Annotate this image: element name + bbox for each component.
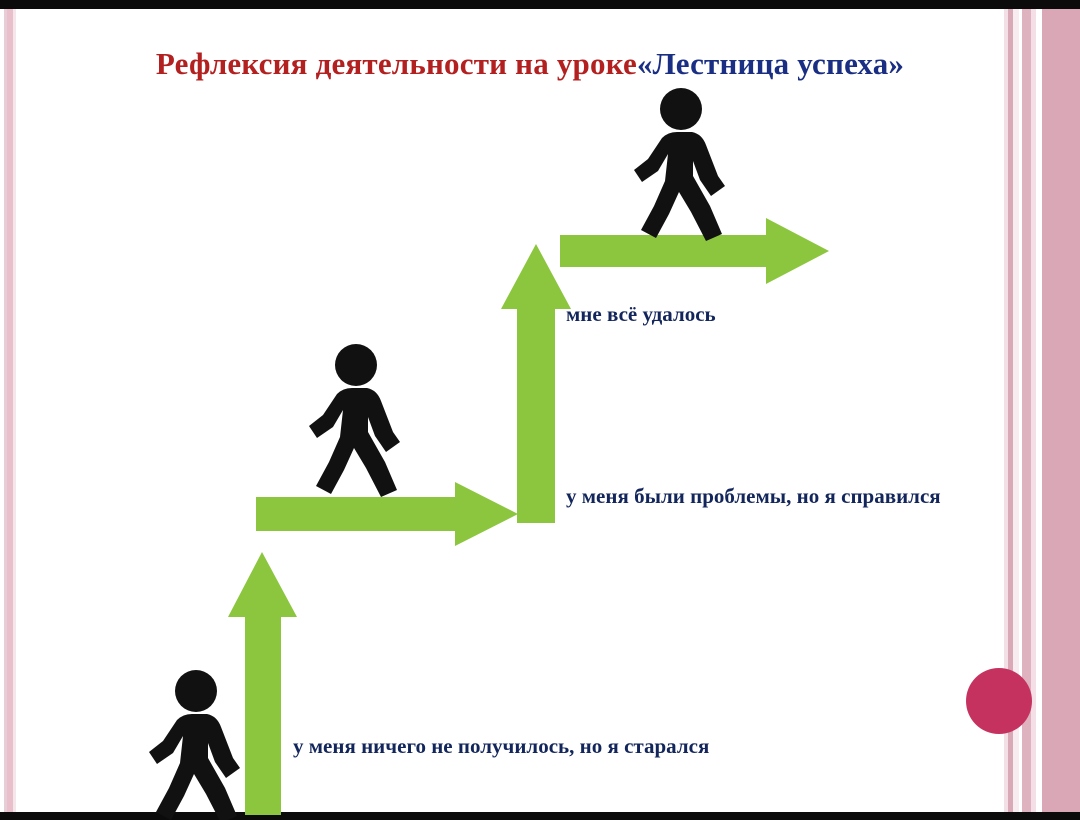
walking-person-icon-bottom bbox=[149, 670, 240, 820]
step-label-bottom: у меня ничего не получилось, но я старал… bbox=[293, 733, 823, 760]
slide-canvas: Рефлексия деятельности на уроке«Лестница… bbox=[0, 0, 1080, 820]
step-label-top: мне всё удалось bbox=[566, 301, 896, 328]
success-ladder-diagram bbox=[0, 0, 1080, 820]
vertical-up-arrow-middle bbox=[501, 244, 571, 523]
step-label-middle: у меня были проблемы, но я справился bbox=[566, 483, 996, 510]
walking-person-icon-top bbox=[634, 88, 725, 241]
vertical-up-arrow-bottom bbox=[228, 552, 297, 815]
horizontal-right-arrow-top bbox=[560, 218, 829, 284]
walking-person-icon-middle bbox=[309, 344, 400, 497]
